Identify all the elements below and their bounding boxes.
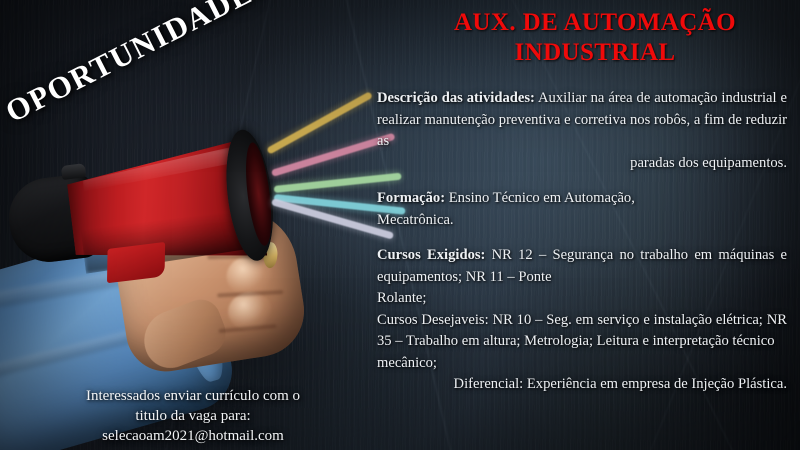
formacao-paragraph: Formação: Ensino Técnico em Automação,	[377, 188, 787, 210]
cursos-exigidos-label: Cursos Exigidos:	[377, 247, 485, 263]
section-formacao: Formação: Ensino Técnico em Automação, M…	[377, 188, 787, 231]
formacao-label: Formação:	[377, 190, 445, 206]
section-cursos-exigidos: Cursos Exigidos: NR 12 – Segurança no tr…	[377, 245, 787, 310]
page-title-line-2: INDUSTRIAL	[400, 38, 790, 68]
descricao-paragraph: Descrição das atividades: Auxiliar na ár…	[377, 88, 787, 153]
descricao-last-line: paradas dos equipamentos.	[377, 153, 787, 175]
section-cursos-desejaveis: Cursos Desejaveis: NR 10 – Seg. em servi…	[377, 310, 787, 375]
job-description-body: Descrição das atividades: Auxiliar na ár…	[377, 88, 787, 396]
contact-line-2: titulo da vaga para:	[28, 406, 358, 426]
section-spacer	[377, 231, 787, 245]
descricao-label: Descrição das atividades:	[377, 90, 535, 106]
cursos-desejaveis-last-line: mecânico;	[377, 353, 787, 375]
page-title: AUX. DE AUTOMAÇÃO INDUSTRIAL	[400, 8, 790, 68]
cursos-exigidos-paragraph: Cursos Exigidos: NR 12 – Segurança no tr…	[377, 245, 787, 288]
section-diferencial: Diferencial: Experiência em empresa de I…	[377, 374, 787, 396]
section-spacer	[377, 174, 787, 188]
formacao-last-line: Mecatrônica.	[377, 210, 787, 232]
cursos-desejaveis-paragraph: Cursos Desejaveis: NR 10 – Seg. em servi…	[377, 310, 787, 353]
contact-email: selecaoam2021@hotmail.com	[28, 426, 358, 446]
contact-block: Interessados enviar currículo com o titu…	[28, 386, 358, 446]
job-posting-poster: OPORTUNIDADE! AUX. DE AUTOMAÇÃO INDUSTRI…	[0, 0, 800, 450]
page-title-line-1: AUX. DE AUTOMAÇÃO	[400, 8, 790, 38]
cursos-exigidos-last-line: Rolante;	[377, 288, 787, 310]
contact-line-1: Interessados enviar currículo com o	[28, 386, 358, 406]
formacao-text: Ensino Técnico em Automação,	[445, 190, 635, 206]
section-descricao: Descrição das atividades: Auxiliar na ár…	[377, 88, 787, 174]
